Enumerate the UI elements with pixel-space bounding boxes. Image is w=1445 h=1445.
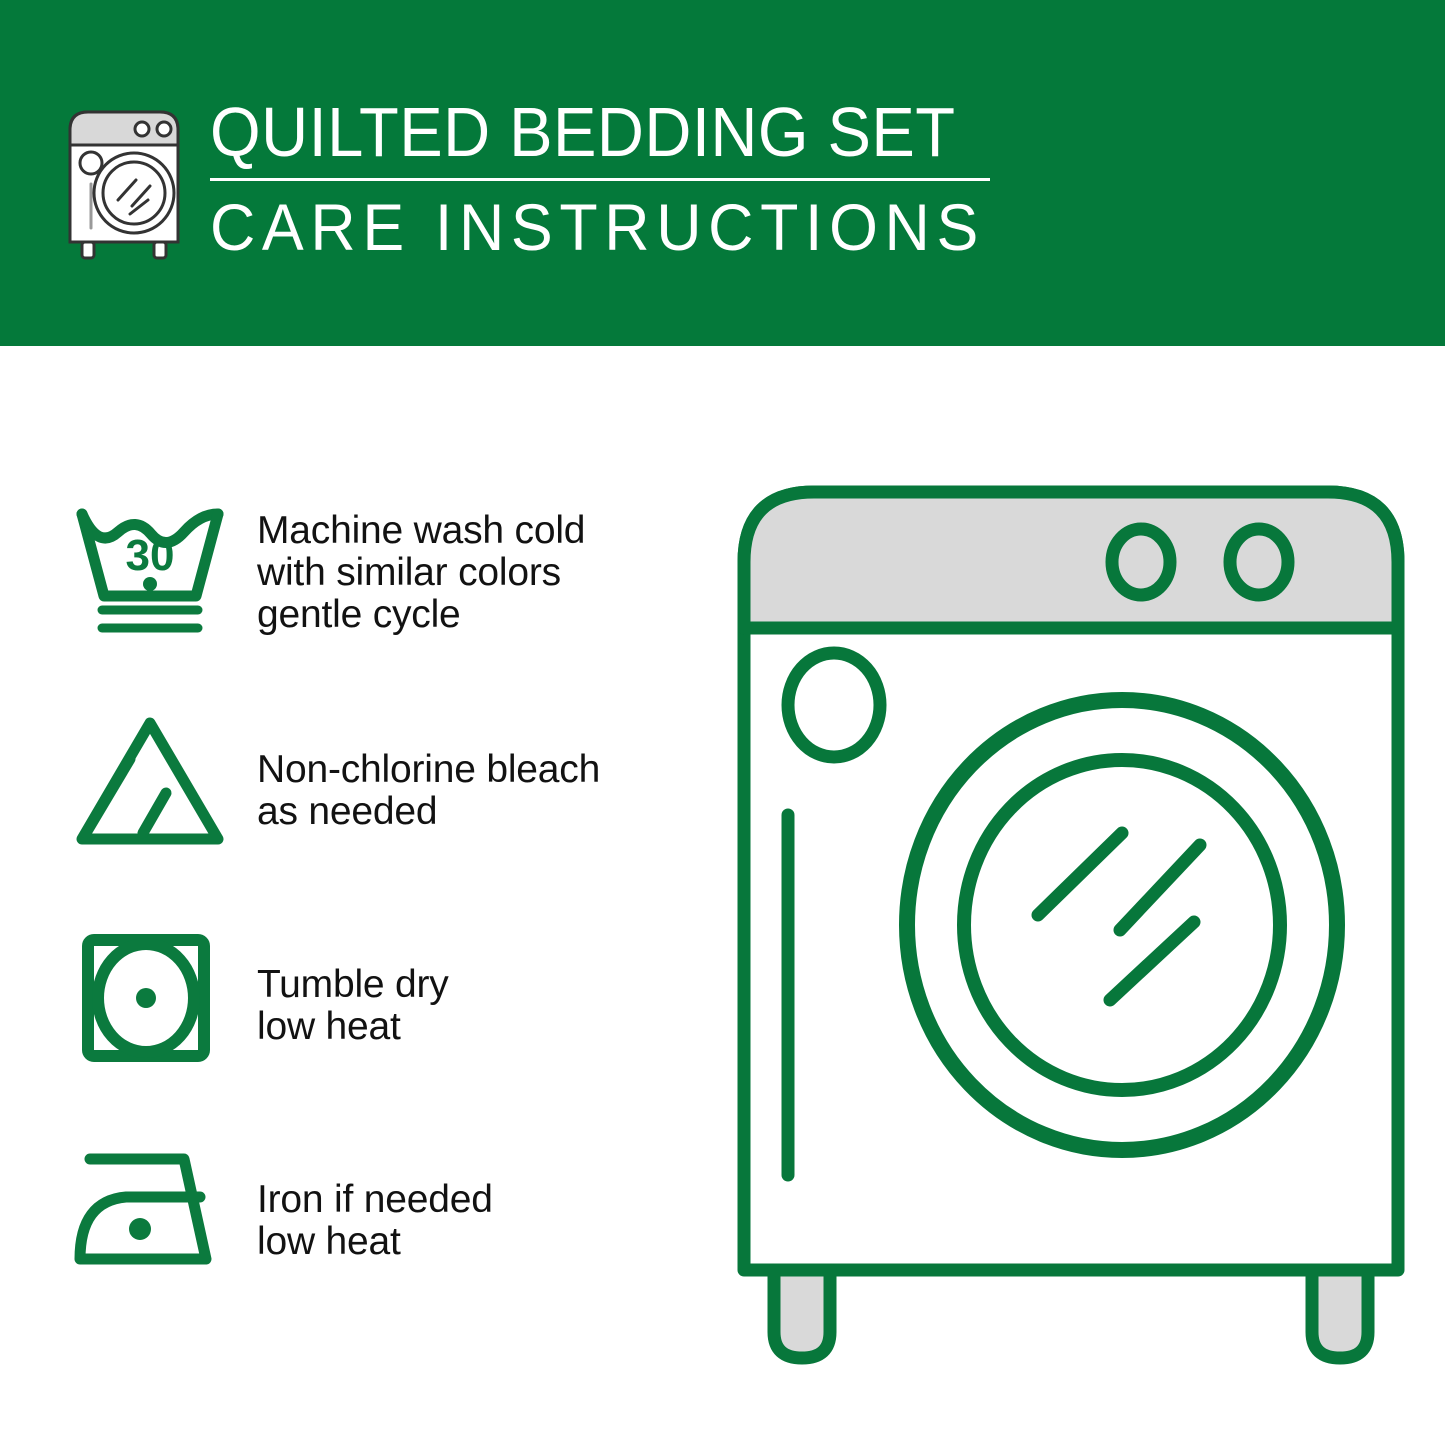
- care-label-line: low heat: [257, 1006, 706, 1048]
- care-label-iron: Iron if needed low heat: [241, 1137, 706, 1263]
- tumble-dry-low-icon: [66, 922, 241, 1082]
- header-band: QUILTED BEDDING SET CARE INSTRUCTIONS: [0, 0, 1445, 346]
- care-label-bleach: Non-chlorine bleach as needed: [241, 707, 706, 833]
- leg-right: [1312, 1270, 1368, 1358]
- care-label-line: as needed: [257, 791, 706, 833]
- care-label-line: Tumble dry: [257, 964, 706, 1006]
- care-label-line: Non-chlorine bleach: [257, 749, 706, 791]
- page-subtitle: CARE INSTRUCTIONS: [210, 189, 1008, 265]
- control-knob-left: [1112, 529, 1170, 595]
- wash-basin-30-icon: 30: [66, 492, 241, 652]
- page-title: QUILTED BEDDING SET: [210, 92, 991, 172]
- iron-low-heat-icon: [66, 1137, 241, 1297]
- title-divider: [210, 178, 990, 181]
- wash-temperature-label: 30: [126, 531, 175, 580]
- care-label-machine-wash: Machine wash cold with similar colors ge…: [241, 492, 706, 636]
- care-row-tumble-dry: Tumble dry low heat: [66, 922, 706, 1137]
- leg-left: [774, 1270, 830, 1358]
- top-control-panel: [744, 492, 1398, 628]
- washing-machine-illustration: [726, 470, 1416, 1370]
- control-knob-right: [1230, 529, 1288, 595]
- care-label-tumble-dry: Tumble dry low heat: [241, 922, 706, 1048]
- care-label-line: with similar colors: [257, 552, 706, 594]
- indicator-ring: [788, 653, 880, 757]
- care-row-machine-wash: 30 Machine wash cold with similar colors…: [66, 492, 706, 707]
- non-chlorine-bleach-triangle-icon: [66, 707, 241, 867]
- care-label-line: Machine wash cold: [257, 510, 706, 552]
- washing-machine-icon: [60, 100, 188, 260]
- care-label-line: Iron if needed: [257, 1179, 706, 1221]
- care-row-iron: Iron if needed low heat: [66, 1137, 706, 1352]
- care-row-bleach: Non-chlorine bleach as needed: [66, 707, 706, 922]
- care-instruction-list: 30 Machine wash cold with similar colors…: [66, 492, 706, 1352]
- header-title-group: QUILTED BEDDING SET CARE INSTRUCTIONS: [210, 92, 1050, 265]
- care-label-line: gentle cycle: [257, 594, 706, 636]
- header-content: QUILTED BEDDING SET CARE INSTRUCTIONS: [60, 92, 1060, 272]
- care-instructions-page: QUILTED BEDDING SET CARE INSTRUCTIONS: [0, 0, 1445, 1445]
- care-label-line: low heat: [257, 1221, 706, 1263]
